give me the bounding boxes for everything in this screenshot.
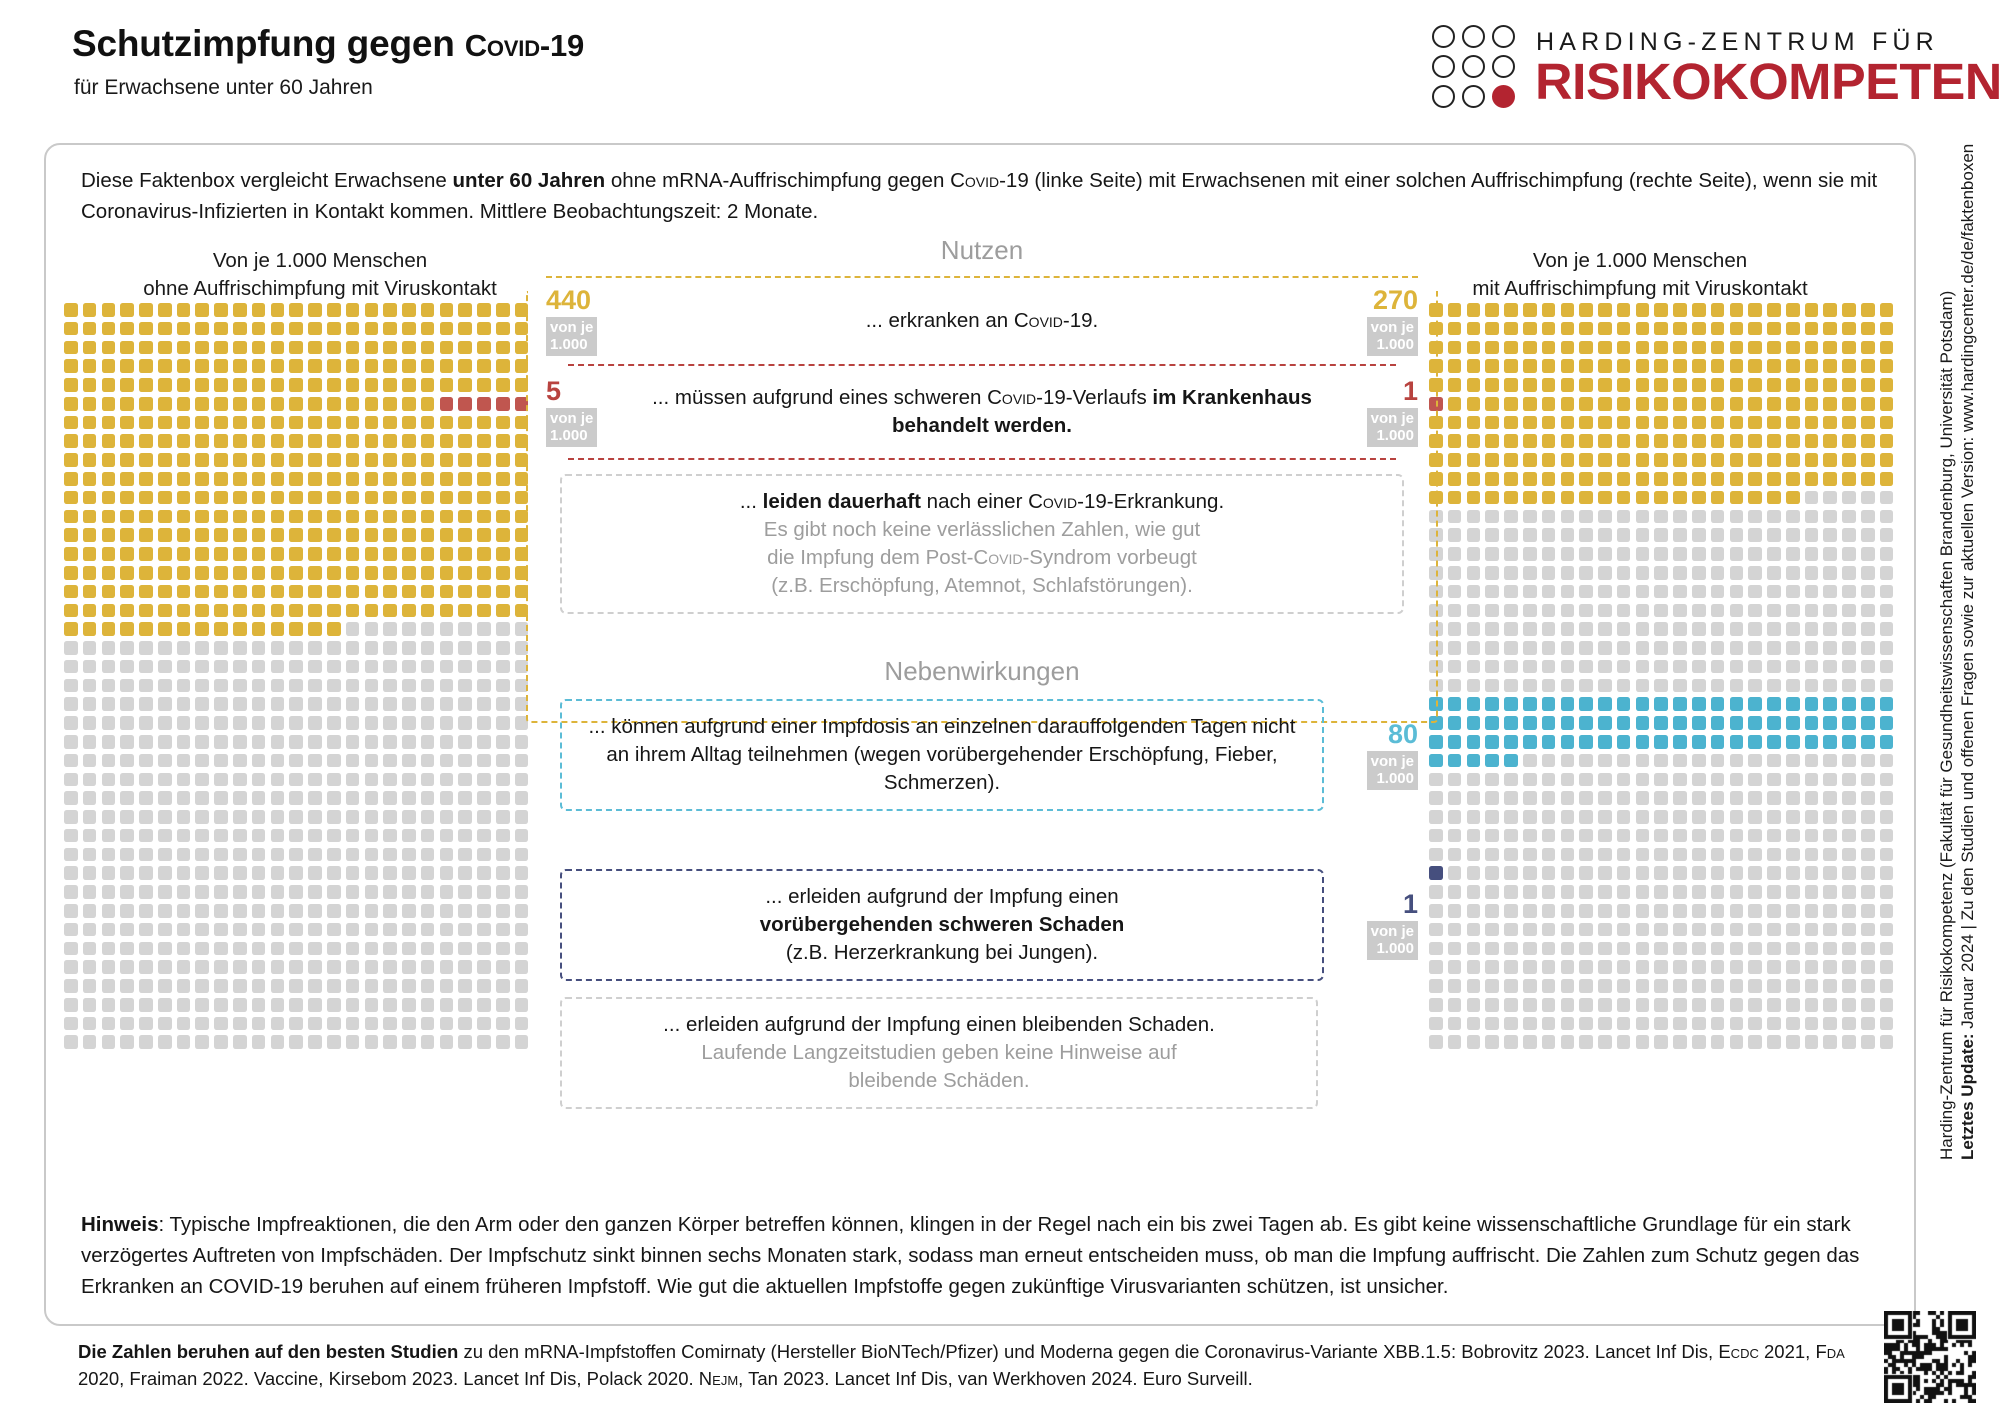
box-schwerer-schaden: ... erleiden aufgrund der Impfung einen … xyxy=(560,869,1324,981)
page-title: Schutzimpfung gegen Covid-19 xyxy=(72,23,584,65)
icon-array-left xyxy=(64,303,531,1052)
sources-paragraph: Die Zahlen beruhen auf den besten Studie… xyxy=(78,1338,1868,1392)
harding-logo: HARDING-ZENTRUM FÜR RISIKOKOMPETENZ xyxy=(1432,18,1962,102)
section-title-nutzen: Nutzen xyxy=(546,235,1418,266)
box-bleibender-schaden: ... erleiden aufgrund der Impfung einen … xyxy=(560,997,1318,1109)
logo-dots-icon xyxy=(1432,25,1518,111)
von-je-badge: von je 1.000 xyxy=(1367,921,1418,960)
box-bleibender-head: ... erleiden aufgrund der Impfung einen … xyxy=(584,1011,1294,1039)
value-right-schwerer-schaden: 1 von je 1.000 xyxy=(1330,890,1418,960)
qr-code[interactable] xyxy=(1884,1311,1976,1403)
von-je-badge: von je 1.000 xyxy=(1367,751,1418,790)
icon-array-right xyxy=(1429,303,1896,1052)
box-alltag: ... können aufgrund einer Impfdosis an e… xyxy=(560,699,1324,811)
sidebar-vertical-notes: Letztes Update: Januar 2024 | Zu den Stu… xyxy=(1940,150,1998,1160)
faktenbox-page: Schutzimpfung gegen Covid-19 für Erwachs… xyxy=(0,0,2000,1419)
nutzen-frame xyxy=(526,291,1438,723)
value-right-alltag: 80 von je 1.000 xyxy=(1330,720,1418,790)
intro-paragraph: Diese Faktenbox vergleicht Erwachsene un… xyxy=(81,165,1881,227)
column-header-left: Von je 1.000 Menschen ohne Auffrischimpf… xyxy=(60,247,580,303)
hinweis-paragraph: Hinweis: Typische Impfreaktionen, die de… xyxy=(81,1209,1881,1302)
box-bleibender-note: Laufende Langzeitstudien geben keine Hin… xyxy=(584,1039,1294,1095)
sidebar-line-update: Letztes Update: Januar 2024 | Zu den Stu… xyxy=(1958,144,1978,1160)
row-alltag: ... können aufgrund einer Impfdosis an e… xyxy=(546,699,1418,811)
page-title-main: Schutzimpfung gegen xyxy=(72,23,465,64)
row-schwerer-schaden: ... erleiden aufgrund der Impfung einen … xyxy=(546,869,1418,981)
centre-column: Nutzen 440 von je 1.000 ... erkranken an… xyxy=(546,235,1418,1109)
page-header: Schutzimpfung gegen Covid-19 für Erwachs… xyxy=(0,0,2000,118)
sidebar-line-institution: Harding-Zentrum für Risikokompetenz (Fak… xyxy=(1937,291,1957,1160)
page-title-covid: Covid-19 xyxy=(465,28,584,63)
page-subtitle: für Erwachsene unter 60 Jahren xyxy=(74,76,373,100)
fact-box-card: Diese Faktenbox vergleicht Erwachsene un… xyxy=(44,143,1916,1326)
column-header-right: Von je 1.000 Menschen mit Auffrischimpfu… xyxy=(1380,247,1900,303)
logo-line-2: RISIKOKOMPETENZ xyxy=(1535,52,2000,111)
